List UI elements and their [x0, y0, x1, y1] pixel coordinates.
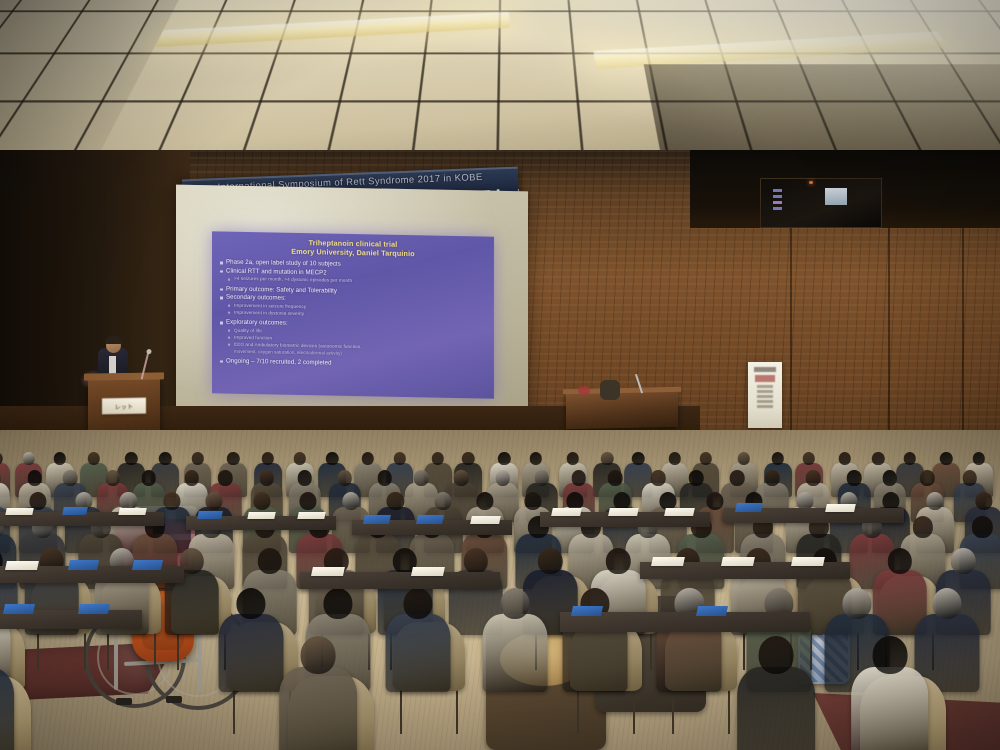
- audience-member-head: [847, 470, 862, 486]
- audience-member-head: [421, 516, 441, 538]
- booth-monitor-screen: [825, 188, 847, 205]
- audience-member-head: [812, 548, 836, 574]
- audience-member-head: [237, 588, 266, 619]
- audience-member-head: [581, 516, 601, 538]
- audience-member-torso: [164, 570, 219, 636]
- audience-member-head: [691, 516, 711, 538]
- audience-member-head: [338, 470, 353, 486]
- audience-member-head: [110, 548, 134, 574]
- audience-member-head: [404, 588, 433, 619]
- speaker-podium: レット: [88, 377, 160, 436]
- audience-member-head: [184, 470, 199, 486]
- audience-member-head: [463, 548, 487, 574]
- conference-hall-photo: International Symposium of Rett Syndrome…: [0, 0, 1000, 750]
- wheelchair-footrest: [116, 698, 132, 705]
- audience-member-head: [689, 470, 704, 486]
- slide-bullet: Ongoing – 7/10 recruited, 2 completed: [219, 357, 487, 370]
- sign-line-highlight: [755, 375, 775, 382]
- audience-member-head: [414, 470, 429, 486]
- audience-member-head: [63, 470, 78, 486]
- audience-member-torso: [25, 570, 80, 636]
- audience-member-torso: [482, 614, 547, 692]
- audience-member-head: [40, 548, 64, 574]
- chairperson-seated: [600, 380, 620, 400]
- audience-member-head: [538, 548, 562, 574]
- audience-member-head: [861, 516, 881, 538]
- sign-line: [757, 385, 773, 388]
- audience-member-head: [300, 636, 335, 674]
- presenter-hair: [105, 336, 122, 344]
- audience-member-head: [651, 470, 666, 486]
- audience-member-head: [675, 588, 704, 619]
- audience-member-head: [368, 516, 388, 538]
- audience-member-torso: [386, 614, 451, 692]
- audience-member-head: [378, 470, 393, 486]
- audience-member-torso: [279, 667, 357, 750]
- audience-member-head: [883, 470, 898, 486]
- audience-member-head: [260, 470, 275, 486]
- audience-member-head: [528, 516, 548, 538]
- audience-member-head: [255, 516, 275, 538]
- podium-top-surface: [84, 372, 164, 380]
- audience-member-head: [842, 588, 871, 619]
- audience-member-torso: [657, 614, 722, 692]
- audience-member-torso: [95, 570, 150, 636]
- sign-line: [754, 367, 776, 372]
- audience-member-head: [454, 470, 469, 486]
- booth-indicator-lights: [773, 189, 782, 215]
- wheelchair-footrest: [166, 696, 182, 703]
- slide-bullet-list: Phase 2a, open label study of 10 subject…: [219, 258, 487, 370]
- audience-member-head: [324, 548, 348, 574]
- audience-member-head: [258, 548, 282, 574]
- projection-screen: Triheptanoin clinical trial Emory Univer…: [176, 185, 528, 432]
- audience-member-head: [913, 516, 933, 538]
- audience-member-torso: [219, 614, 284, 692]
- audience-member-head: [809, 516, 829, 538]
- audience-member-head: [951, 548, 975, 574]
- audience-member-head: [218, 470, 233, 486]
- audience-member-head: [297, 470, 312, 486]
- audience-member-head: [32, 516, 52, 538]
- audience-member-torso: [851, 667, 929, 750]
- audience-member-head: [495, 470, 510, 486]
- audience-member-head: [972, 516, 992, 538]
- audience-member-head: [393, 548, 417, 574]
- sign-line: [757, 395, 773, 398]
- audience-member-head: [141, 470, 156, 486]
- audience-member-head: [806, 470, 821, 486]
- audience-member-torso: [563, 614, 628, 692]
- audience-member-head: [920, 470, 935, 486]
- audience-member-head: [91, 516, 111, 538]
- sign-line: [757, 390, 773, 393]
- projection-booth-window: [760, 178, 882, 228]
- audience-member-head: [201, 516, 221, 538]
- chairperson-table: [566, 391, 678, 429]
- audience-member-torso: [738, 667, 816, 750]
- audience-member-head: [535, 470, 550, 486]
- audience-member-head: [309, 516, 329, 538]
- presenter-shirt: [109, 356, 116, 374]
- audience-member-head: [106, 470, 121, 486]
- audience-member-head: [580, 588, 609, 619]
- floor-standing-signboard: [748, 362, 782, 428]
- booth-red-indicator-icon: [809, 181, 813, 184]
- sign-line: [757, 405, 773, 408]
- audience-member-head: [675, 548, 699, 574]
- audience-member-head: [753, 516, 773, 538]
- audience-member-head: [759, 636, 794, 674]
- audience-member-head: [608, 470, 623, 486]
- projected-slide: Triheptanoin clinical trial Emory Univer…: [212, 231, 494, 398]
- audience-member-head: [474, 516, 494, 538]
- audience-member-head: [28, 470, 43, 486]
- audience-member-head: [962, 470, 977, 486]
- audience-member-head: [500, 588, 529, 619]
- audience-member-head: [571, 470, 586, 486]
- audience-member-head: [765, 588, 794, 619]
- podium-sign: レット: [102, 398, 146, 415]
- audience-member-head: [765, 470, 780, 486]
- audience-member-head: [730, 470, 745, 486]
- sign-line: [757, 400, 773, 403]
- audience-member-head: [638, 516, 658, 538]
- audience-member-head: [872, 636, 907, 674]
- audience-member-head: [746, 548, 770, 574]
- audience-member-head: [180, 548, 204, 574]
- audience-member-head: [145, 516, 165, 538]
- audience-member-head: [606, 548, 630, 574]
- audience-member-head: [932, 588, 961, 619]
- table-flower-arrangement: [578, 386, 590, 395]
- audience-member-head: [323, 588, 352, 619]
- audience-member-head: [888, 548, 912, 574]
